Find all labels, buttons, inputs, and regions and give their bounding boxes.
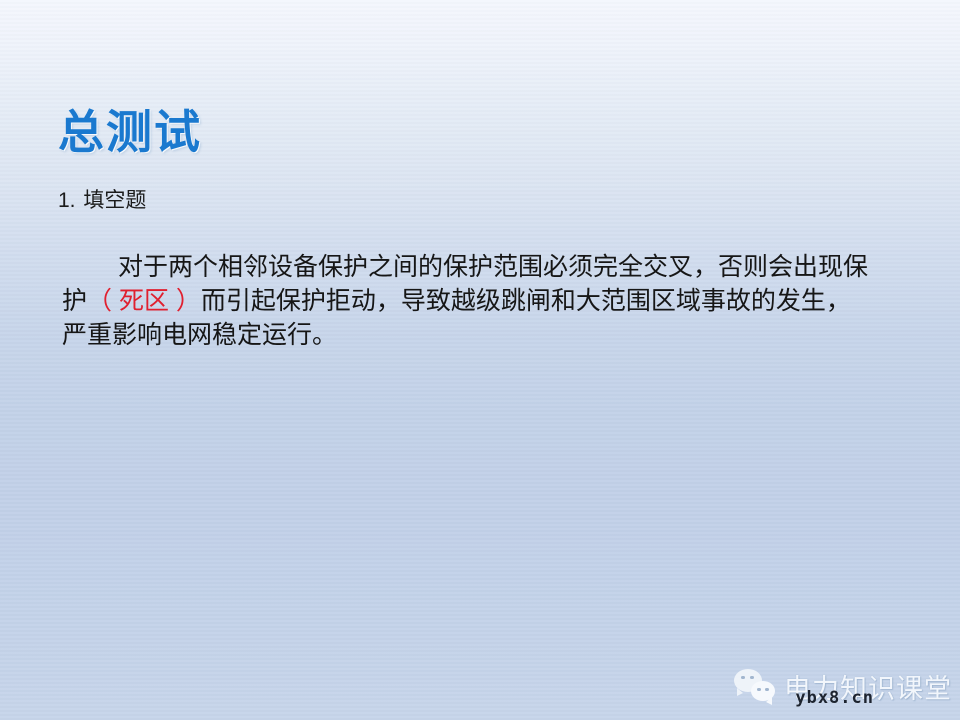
site-tag: ybx8.cn (795, 688, 874, 708)
wechat-dot (750, 676, 754, 680)
question-heading: 1. 填空题 (58, 184, 146, 214)
wechat-dot (765, 688, 769, 692)
wechat-bubble-large (734, 669, 762, 692)
wechat-icon (734, 669, 778, 705)
question-label: 填空题 (83, 189, 146, 212)
page-title: 总测试 (58, 96, 202, 162)
watermark-account-name: 电力知识课堂 (784, 667, 952, 706)
watermark: 电力知识课堂 (734, 667, 952, 706)
question-body-text: 对于两个相邻设备保护之间的保护范围必须完全交叉，否则会出现保护（ 死区 ）而引起… (62, 250, 872, 352)
wechat-dot (741, 676, 745, 680)
wechat-dot (757, 688, 761, 692)
question-number: 1. (58, 189, 76, 212)
answer-blank: （ 死区 ） (87, 287, 201, 315)
slide-canvas: 总测试 1. 填空题 对于两个相邻设备保护之间的保护范围必须完全交叉，否则会出现… (0, 0, 960, 720)
wechat-bubble-small (751, 681, 775, 701)
